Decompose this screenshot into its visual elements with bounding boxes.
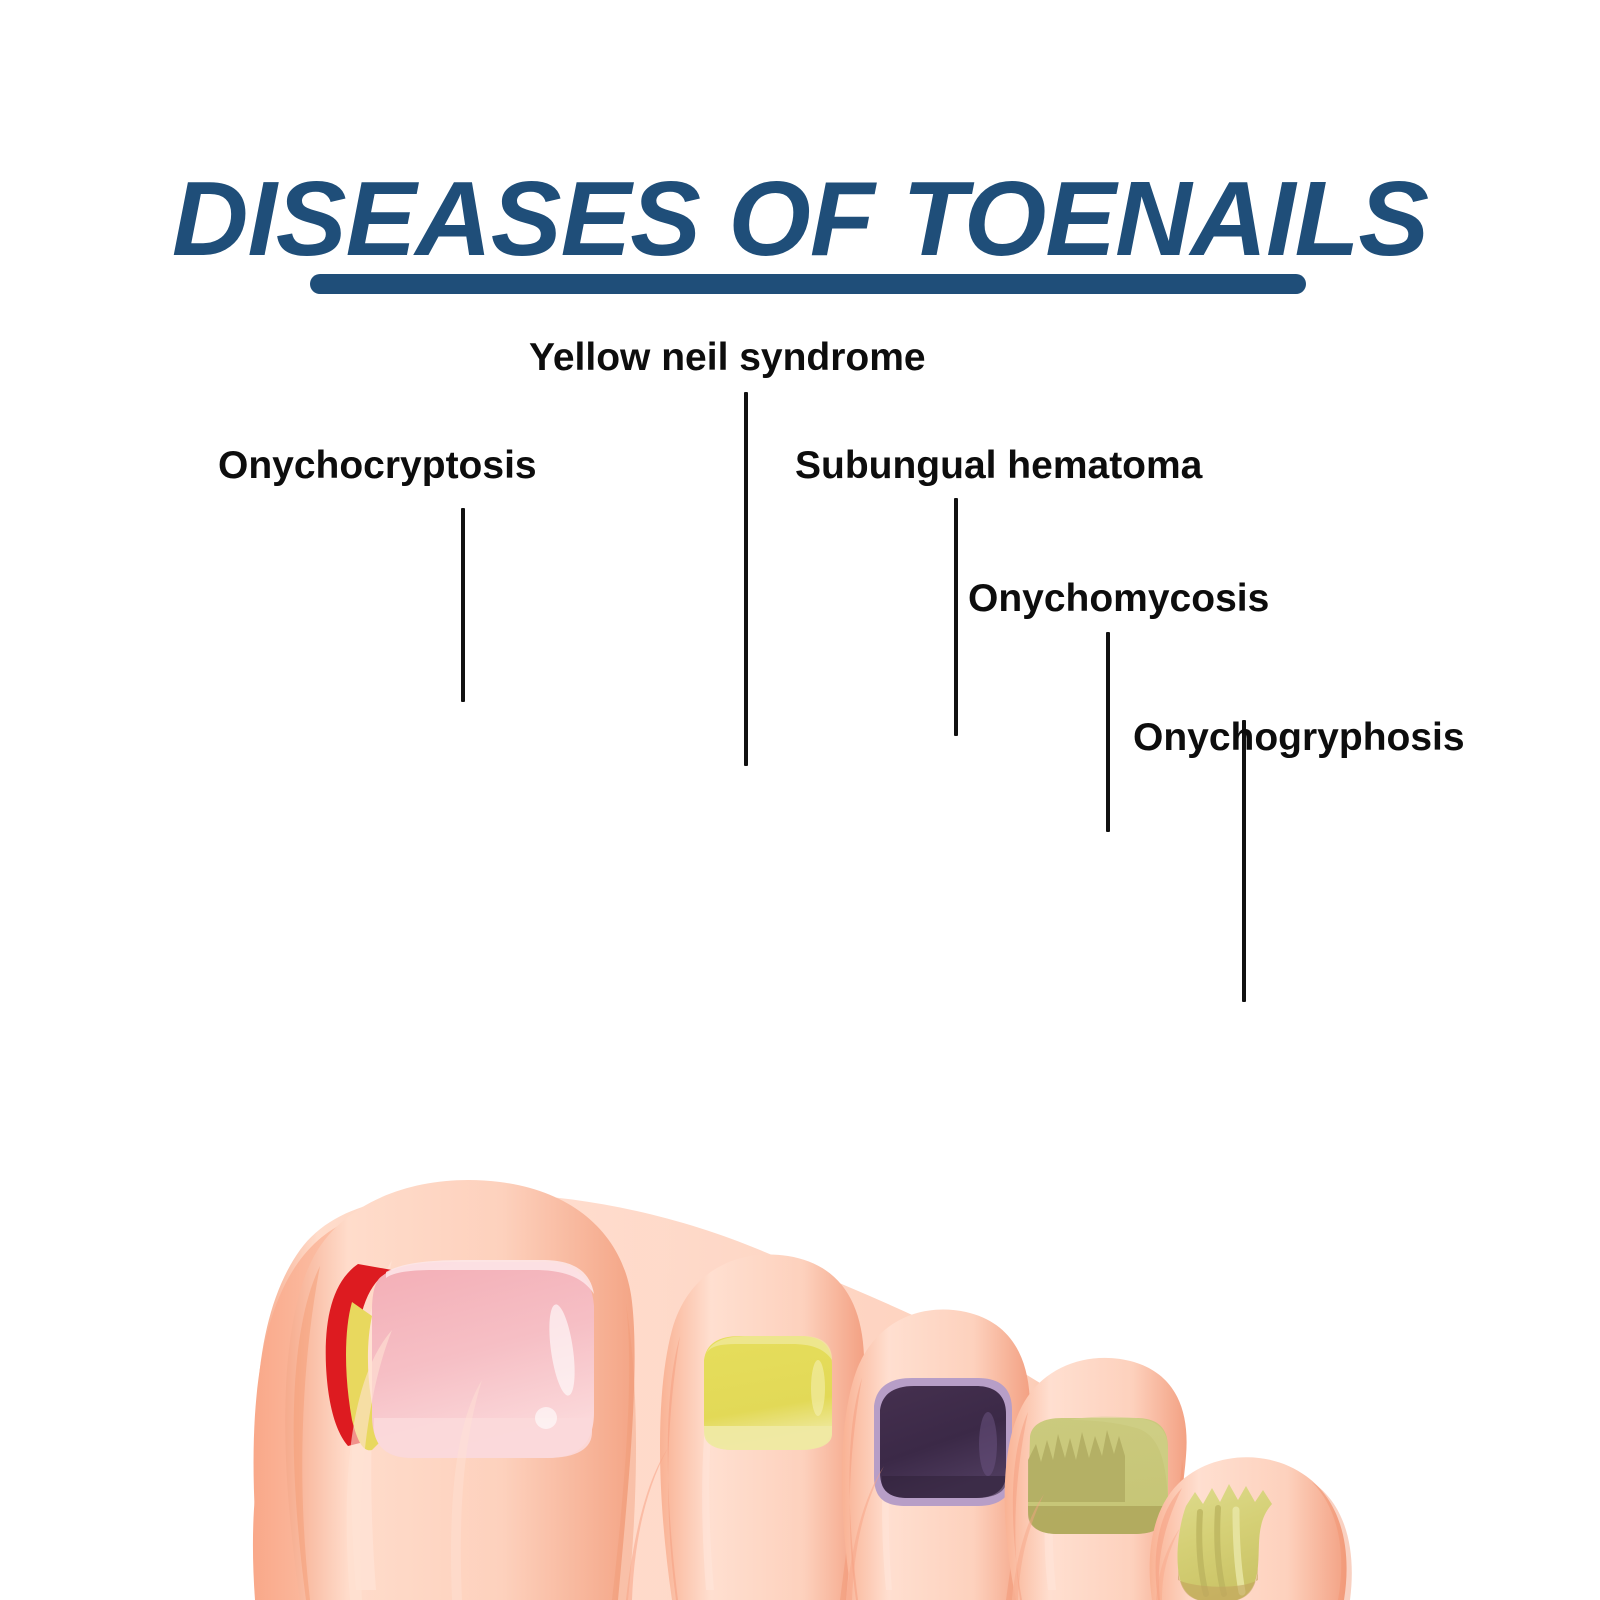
label-onychocryptosis: Onychocryptosis — [218, 444, 537, 488]
infographic-canvas: DISEASES OF TOENAILS — [0, 0, 1600, 1600]
leader-line-onychomycosis — [1106, 632, 1110, 832]
leader-line-onychogryphosis — [1242, 720, 1246, 1002]
title-divider-rule — [310, 274, 1306, 294]
label-onychomycosis: Onychomycosis — [968, 577, 1269, 621]
label-subungual-hematoma: Subungual hematoma — [795, 444, 1202, 488]
nail-onychomycosis — [1028, 1417, 1168, 1534]
leader-line-yellow-nail-syndrome — [744, 392, 748, 766]
nail-subungual-hematoma — [874, 1378, 1012, 1506]
leader-line-subungual-hematoma — [954, 498, 958, 736]
label-onychogryphosis: Onychogryphosis — [1133, 716, 1465, 760]
label-yellow-nail-syndrome: Yellow neil syndrome — [529, 336, 926, 380]
nail-yellow-nail-syndrome — [704, 1336, 832, 1450]
leader-line-onychocryptosis — [461, 508, 465, 702]
page-title: DISEASES OF TOENAILS — [0, 163, 1600, 275]
